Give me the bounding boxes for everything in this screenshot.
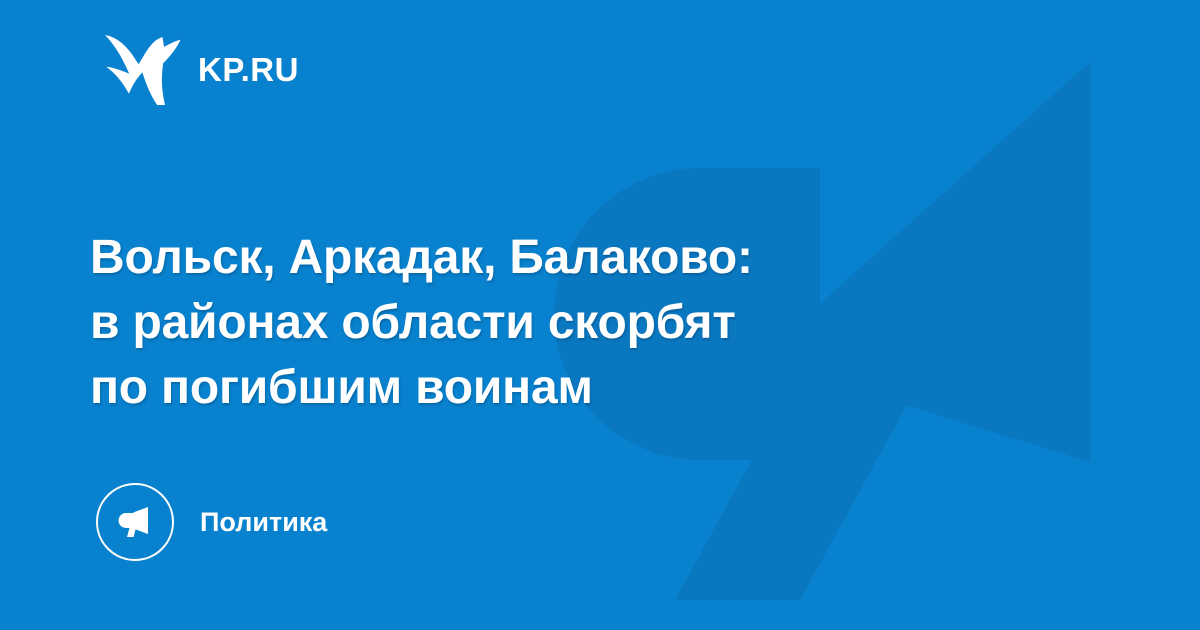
category-badge[interactable]: Политика	[96, 483, 327, 561]
headline-line-2: в районах области скорбят	[90, 290, 990, 355]
brand-logo[interactable]: KP.RU	[100, 33, 299, 105]
swallow-bird-icon	[100, 33, 182, 105]
headline-line-1: Вольск, Аркадак, Балаково:	[90, 225, 990, 290]
brand-wordmark: KP.RU	[198, 53, 299, 86]
social-share-card: KP.RU Вольск, Аркадак, Балаково: в район…	[0, 0, 1200, 630]
headline: Вольск, Аркадак, Балаково: в районах обл…	[90, 225, 990, 420]
category-label: Политика	[200, 509, 327, 536]
megaphone-icon	[113, 500, 157, 544]
headline-line-3: по погибшим воинам	[90, 355, 990, 420]
category-icon-circle	[96, 483, 174, 561]
